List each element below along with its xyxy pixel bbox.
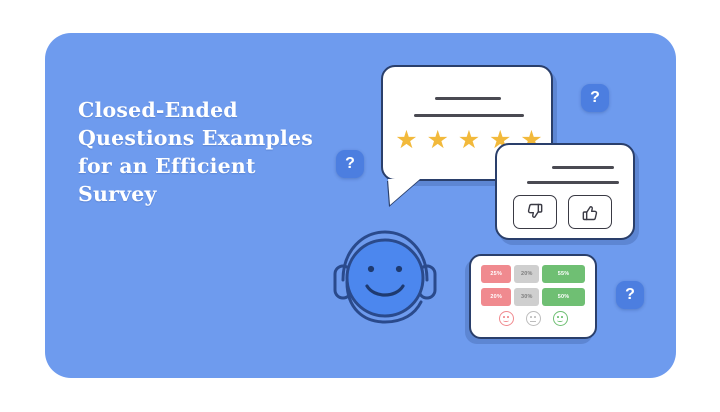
- question-badge-top-right: ?: [581, 84, 609, 112]
- thumbs-down-button[interactable]: [513, 195, 557, 229]
- speech-bubble-tail: [388, 179, 420, 205]
- feedback-card: [495, 143, 635, 240]
- smiley-headphones-icon: [325, 222, 445, 332]
- question-mark-icon: ?: [345, 155, 355, 173]
- thumbs-down-icon: [525, 202, 545, 222]
- question-mark-icon: ?: [625, 286, 635, 304]
- happy-face-icon[interactable]: [553, 311, 568, 326]
- result-cell-neutral: 30%: [514, 288, 539, 306]
- question-mark-icon: ?: [590, 89, 600, 107]
- page-title: Closed-Ended Questions Examples for an E…: [78, 96, 328, 208]
- rating-faces: [481, 311, 585, 326]
- star-icon: ★: [426, 129, 449, 152]
- thumbs-up-icon: [580, 202, 600, 222]
- neutral-face-icon[interactable]: [526, 311, 541, 326]
- survey-results-card: 25% 20% 55% 20% 30% 50%: [469, 254, 597, 339]
- result-cell-negative: 25%: [481, 265, 511, 283]
- question-badge-bottom-right: ?: [616, 281, 644, 309]
- results-row: 25% 20% 55%: [481, 265, 585, 283]
- star-icon: ★: [395, 129, 418, 152]
- result-cell-positive: 50%: [542, 288, 585, 306]
- star-icon: ★: [458, 129, 481, 152]
- result-cell-positive: 55%: [542, 265, 585, 283]
- result-cell-neutral: 20%: [514, 265, 539, 283]
- sad-face-icon[interactable]: [499, 311, 514, 326]
- results-row: 20% 30% 50%: [481, 288, 585, 306]
- result-cell-negative: 20%: [481, 288, 511, 306]
- question-badge-left: ?: [336, 150, 364, 178]
- feedback-buttons: [513, 195, 612, 229]
- text-line: [527, 181, 619, 184]
- illustration-stage: Closed-Ended Questions Examples for an E…: [0, 0, 720, 412]
- text-line: [552, 166, 614, 169]
- thumbs-up-button[interactable]: [568, 195, 612, 229]
- text-line: [435, 97, 501, 100]
- text-line: [414, 114, 524, 117]
